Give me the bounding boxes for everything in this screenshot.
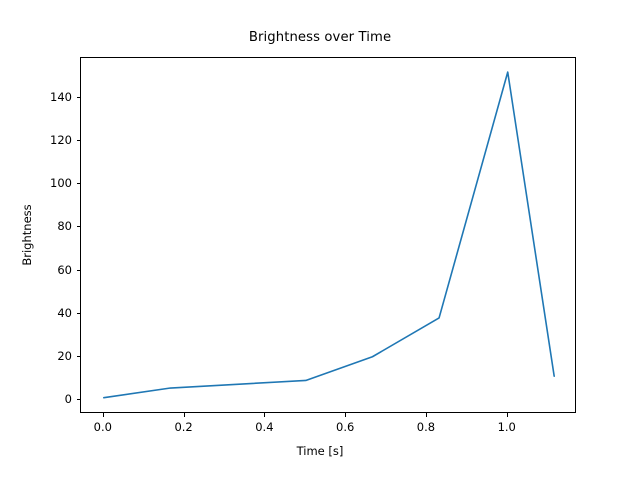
y-tick-mark: [77, 97, 81, 98]
x-tick-label: 0.0: [94, 420, 112, 434]
y-tick-label: 40: [57, 306, 72, 320]
plot-area: [81, 58, 577, 414]
chart-title: Brightness over Time: [0, 30, 640, 45]
y-tick-label: 0: [65, 392, 72, 406]
x-tick-label: 0.6: [336, 420, 354, 434]
x-tick-mark: [345, 413, 346, 417]
x-tick-mark: [426, 413, 427, 417]
y-tick-label: 60: [57, 263, 72, 277]
y-tick-mark: [77, 226, 81, 227]
x-tick-label: 1.0: [498, 420, 516, 434]
y-tick-mark: [77, 399, 81, 400]
y-tick-label: 140: [50, 90, 72, 104]
y-tick-mark: [77, 183, 81, 184]
brightness-line: [104, 72, 554, 398]
y-tick-label: 100: [50, 176, 72, 190]
y-tick-label: 80: [57, 219, 72, 233]
x-tick-label: 0.2: [174, 420, 192, 434]
plot-axes: [80, 57, 576, 413]
x-tick-mark: [264, 413, 265, 417]
y-tick-label: 120: [50, 133, 72, 147]
y-tick-mark: [77, 270, 81, 271]
x-axis-label: Time [s]: [0, 444, 640, 458]
y-tick-mark: [77, 313, 81, 314]
x-tick-mark: [184, 413, 185, 417]
y-tick-mark: [77, 356, 81, 357]
x-tick-label: 0.4: [255, 420, 273, 434]
y-tick-label: 20: [57, 349, 72, 363]
x-tick-label: 0.8: [417, 420, 435, 434]
x-tick-mark: [103, 413, 104, 417]
matplotlib-figure: Brightness over Time 020406080100120140 …: [0, 0, 640, 480]
y-axis-label: Brightness: [20, 204, 34, 265]
x-tick-mark: [507, 413, 508, 417]
y-tick-mark: [77, 140, 81, 141]
